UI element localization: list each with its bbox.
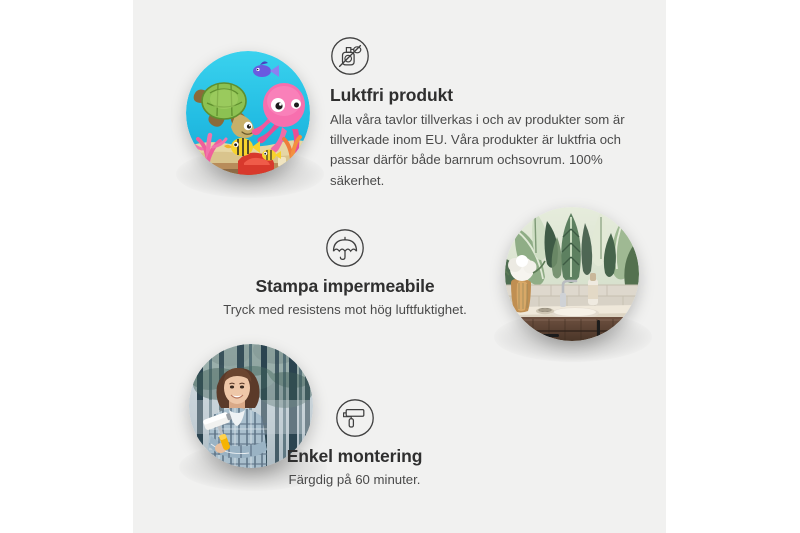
feature-mounting: Enkel montering Färgdig på 60 minuter. xyxy=(272,398,437,490)
underwater-illustration xyxy=(186,51,310,175)
photo-underwater xyxy=(186,51,310,175)
feature-odorless: Luktfri produkt Alla våra tavlor tillver… xyxy=(330,36,630,191)
umbrella-icon xyxy=(325,228,365,268)
feature-waterproof: Stampa impermeabile Tryck med resistens … xyxy=(200,228,490,320)
photo-bathroom xyxy=(505,207,639,341)
promo-graphic: Luktfri produkt Alla våra tavlor tillver… xyxy=(0,0,800,533)
feature-description: Tryck med resistens mot hög luftfuktighe… xyxy=(200,300,490,320)
paint-roller-icon xyxy=(335,398,375,438)
feature-title: Stampa impermeabile xyxy=(200,276,490,297)
feature-description: Färgdig på 60 minuter. xyxy=(272,470,437,490)
no-odor-perfume-bottle-icon xyxy=(330,36,370,76)
feature-title: Enkel montering xyxy=(272,446,437,467)
feature-description: Alla våra tavlor tillverkas i och av pro… xyxy=(330,110,630,191)
bathroom-photo xyxy=(505,207,639,341)
feature-title: Luktfri produkt xyxy=(330,85,630,106)
